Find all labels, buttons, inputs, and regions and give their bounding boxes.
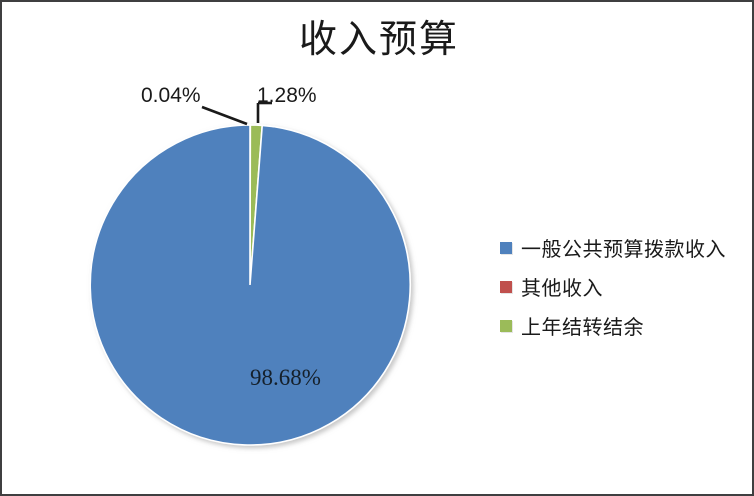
legend-swatch-blue-icon (500, 242, 512, 254)
data-label-general-budget-appropriation: 98.68% (250, 365, 321, 391)
legend-item-other-income[interactable]: 其他收入 (500, 267, 750, 306)
leader-line-other-income (202, 107, 247, 124)
legend-swatch-green-icon (500, 320, 512, 332)
chart-container: 收入预算 0.04% 1.28% 98.68% (0, 0, 754, 496)
legend-swatch-red-icon (500, 281, 512, 293)
pie-chart-svg (62, 97, 442, 477)
legend-label-carryover-balance: 上年结转结余 (521, 311, 644, 340)
data-label-carryover-balance: 1.28% (257, 84, 317, 108)
pie-slices-group (90, 125, 410, 445)
data-label-other-income: 0.04% (141, 84, 201, 108)
legend-item-general-budget-appropriation[interactable]: 一般公共预算拨款收入 (500, 228, 750, 267)
pie-slice-general-budget-appropriation[interactable] (90, 125, 410, 445)
legend-label-other-income: 其他收入 (521, 272, 603, 301)
legend-item-carryover-balance[interactable]: 上年结转结余 (500, 306, 750, 345)
chart-legend: 一般公共预算拨款收入 其他收入 上年结转结余 (500, 228, 750, 345)
legend-label-general-budget-appropriation: 一般公共预算拨款收入 (521, 233, 726, 262)
